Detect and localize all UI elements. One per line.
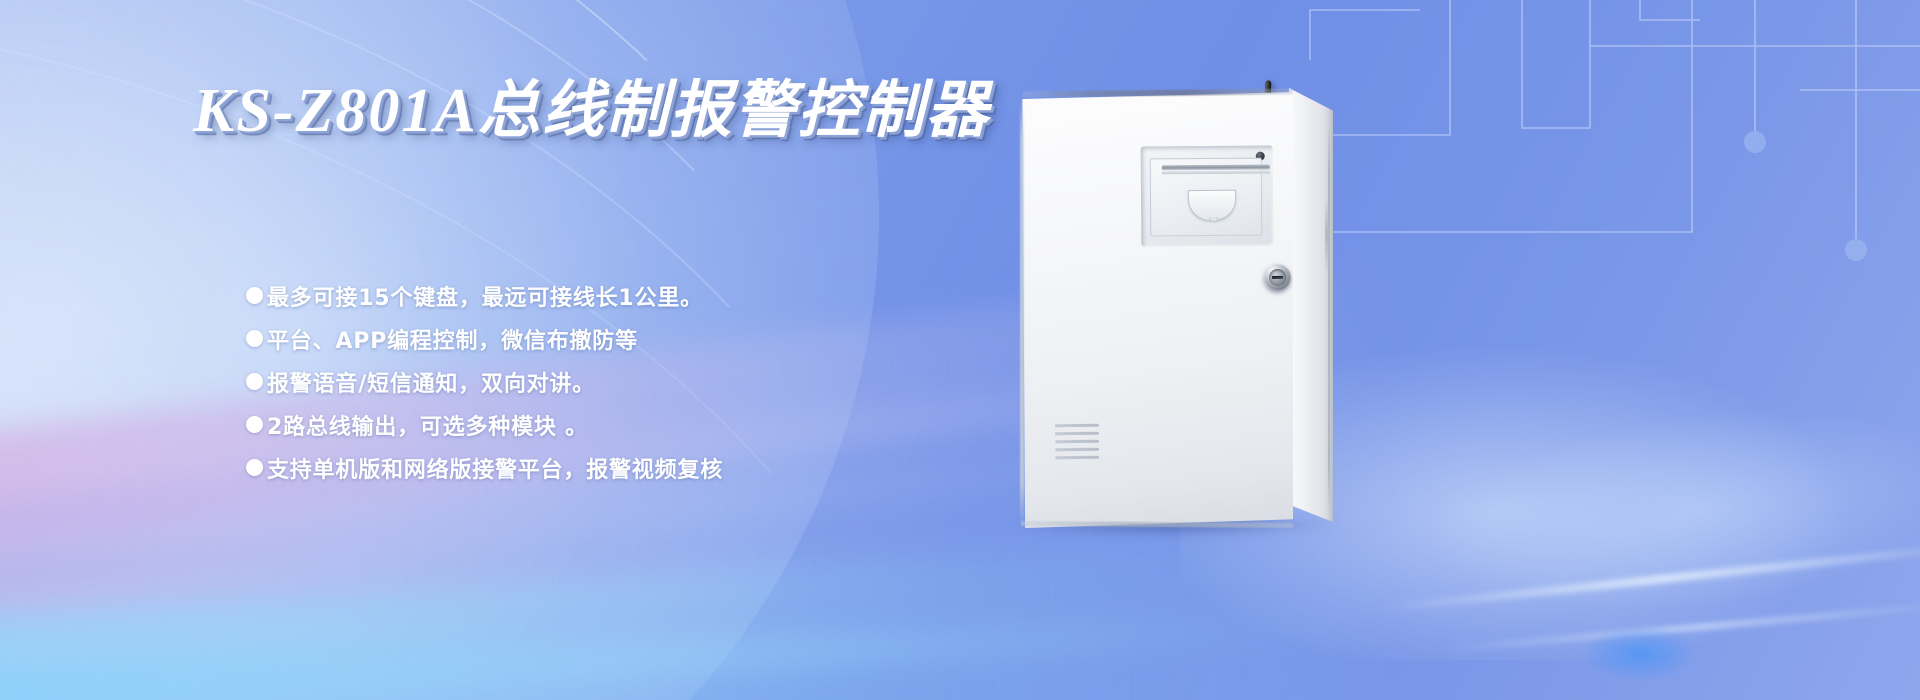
product-image-alarm-control-panel: [1003, 78, 1543, 598]
vent-line: [1055, 456, 1099, 459]
list-item: 平台、APP编程控制，微信布撤防等: [246, 317, 723, 360]
printer-door: [1150, 158, 1263, 237]
key-lock-barrel: [1269, 269, 1286, 286]
paper-slot: [1162, 165, 1270, 171]
feature-list: 最多可接15个键盘，最远可接线长1公里。 平台、APP编程控制，微信布撤防等 报…: [246, 274, 723, 489]
background-blue-accent: [1580, 626, 1700, 682]
device-side-panel: [1289, 88, 1333, 522]
list-item: 报警语音/短信通知，双向对讲。: [246, 360, 723, 403]
list-item: 2路总线输出，可选多种模块 。: [246, 403, 723, 446]
bullet-dot-icon: [246, 373, 263, 390]
bullet-dot-icon: [246, 330, 263, 347]
list-item: 最多可接15个键盘，最远可接线长1公里。: [246, 274, 723, 317]
vent-line: [1055, 440, 1099, 443]
device-side-seam: [1328, 122, 1330, 512]
printer-recess: [1141, 146, 1274, 247]
feature-text: 2路总线输出，可选多种模块 。: [267, 409, 588, 441]
title-model: KS-Z801A: [193, 77, 478, 145]
background-light-streak-2: [1441, 601, 1920, 652]
device-left-edge: [1020, 98, 1024, 526]
title-chinese: 总线制报警控制器: [478, 73, 990, 146]
ventilation-grille-icon: [1055, 424, 1099, 462]
vent-line: [1055, 448, 1099, 451]
product-banner: KS-Z801A总线制报警控制器 最多可接15个键盘，最远可接线长1公里。 平台…: [0, 0, 1920, 700]
vent-line: [1055, 432, 1099, 435]
pull-handle-icon: [1188, 190, 1236, 221]
feature-text: 平台、APP编程控制，微信布撤防等: [267, 323, 638, 355]
device-front-panel: [1021, 92, 1293, 528]
bullet-dot-icon: [246, 459, 263, 476]
feature-text: 最多可接15个键盘，最远可接线长1公里。: [267, 280, 703, 312]
key-lock-slot: [1272, 276, 1283, 279]
vent-line: [1055, 424, 1099, 427]
feature-text: 报警语音/短信通知，双向对讲。: [267, 366, 595, 398]
paper-slot-lip: [1162, 171, 1270, 175]
background-ribbon-5: [0, 616, 1401, 700]
key-lock-icon: [1264, 264, 1291, 291]
bullet-dot-icon: [246, 416, 263, 433]
page-title: KS-Z801A总线制报警控制器: [193, 74, 990, 147]
list-item: 支持单机版和网络版接警平台，报警视频复核: [246, 446, 723, 489]
bullet-dot-icon: [246, 287, 263, 304]
handle-notch: [1209, 217, 1218, 222]
feature-text: 支持单机版和网络版接警平台，报警视频复核: [267, 452, 723, 484]
